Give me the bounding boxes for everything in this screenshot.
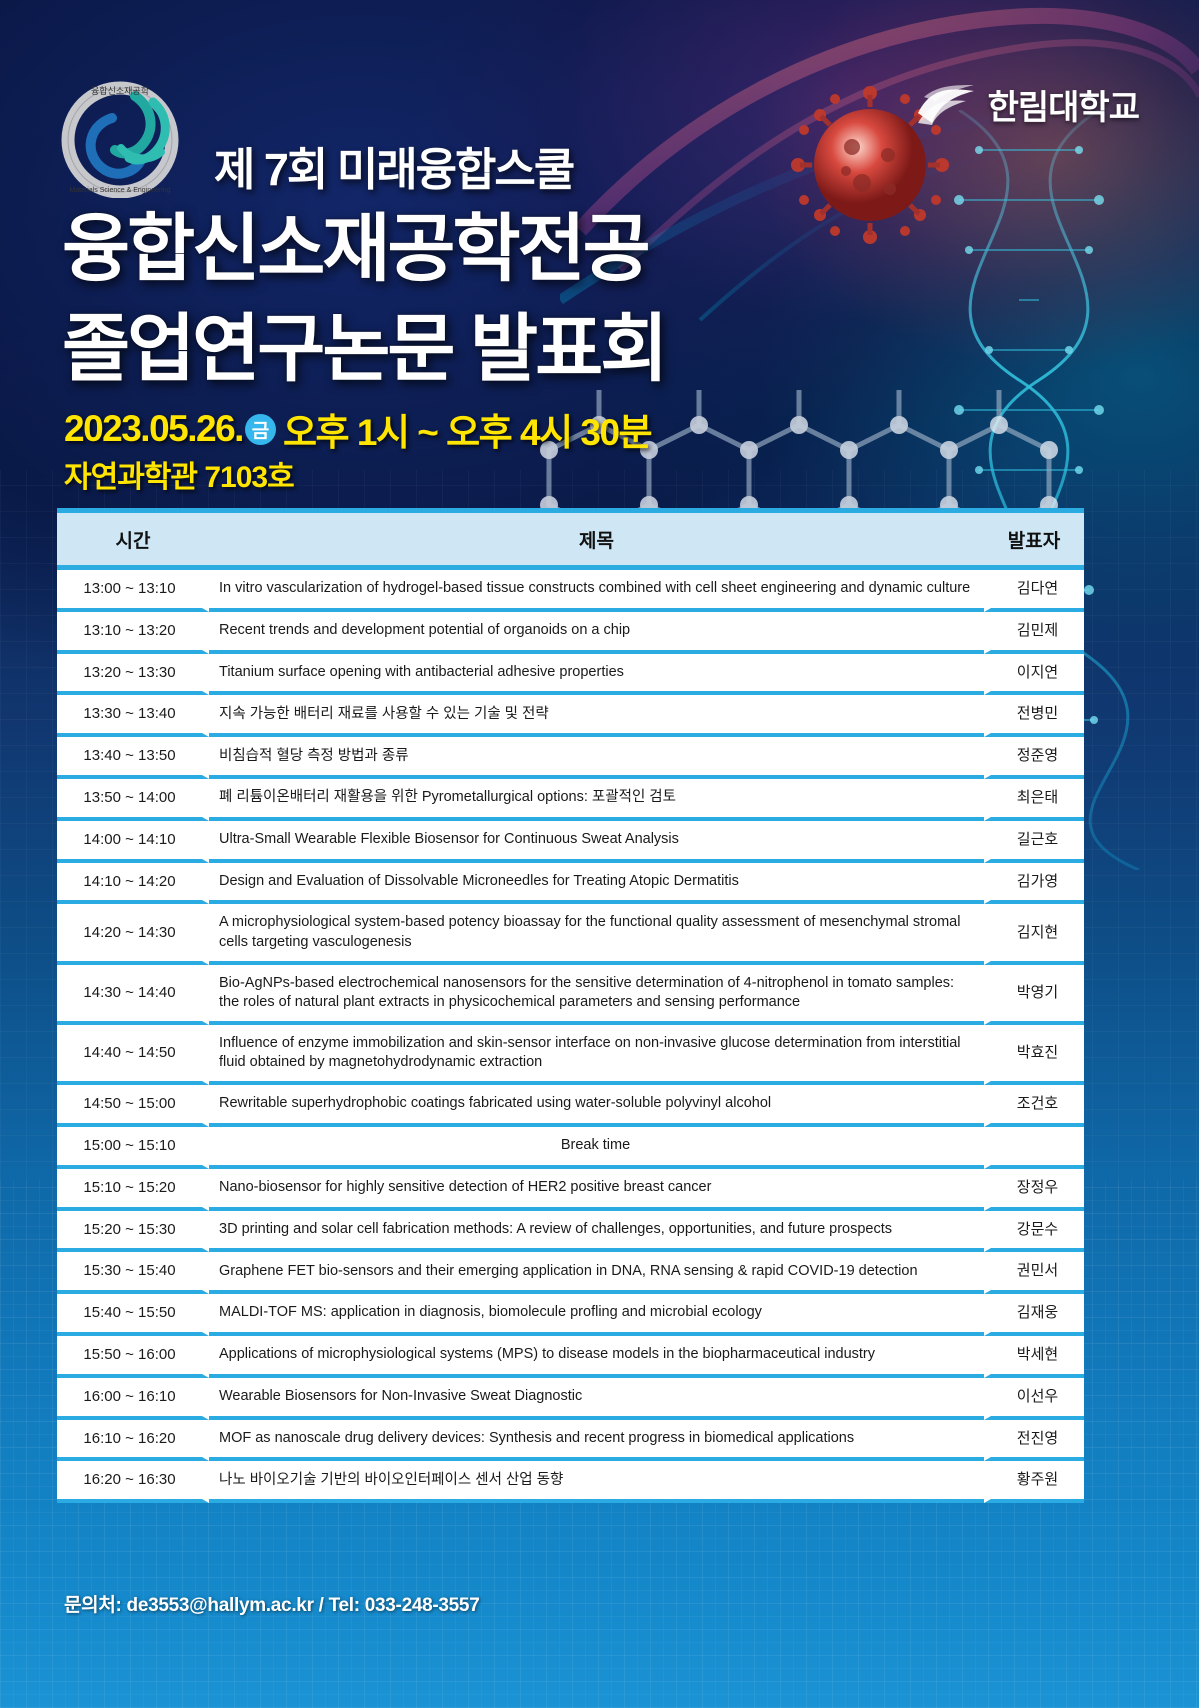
cell-time: 13:40 ~ 13:50 [57,737,209,779]
table-row: 16:00 ~ 16:10Wearable Biosensors for Non… [57,1378,1084,1420]
hallym-wave-icon [914,83,978,127]
department-logo: 융합신소재공학 Materials Science & Engineering [57,78,207,198]
plasma-swirl-decoration [560,0,1199,330]
cell-time: 13:50 ~ 14:00 [57,779,209,821]
table-row: 14:40 ~ 14:50Influence of enzyme immobil… [57,1025,1084,1085]
cell-time: 13:20 ~ 13:30 [57,654,209,696]
cell-presenter: 정준영 [984,737,1084,779]
cell-title: MOF as nanoscale drug delivery devices: … [209,1420,984,1462]
cell-time: 16:10 ~ 16:20 [57,1420,209,1462]
cell-time: 15:10 ~ 15:20 [57,1169,209,1211]
logo-outer-text: 융합신소재공학 [91,86,149,96]
contact-footer: 문의처: de3553@hallym.ac.kr / Tel: 033-248-… [64,1590,479,1617]
table-row: 15:00 ~ 15:10Break time [57,1127,1084,1169]
cell-time: 13:30 ~ 13:40 [57,695,209,737]
table-row: 13:20 ~ 13:30Titanium surface opening wi… [57,654,1084,696]
cell-time: 13:00 ~ 13:10 [57,570,209,612]
table-row: 14:00 ~ 14:10Ultra-Small Wearable Flexib… [57,821,1084,863]
table-row: 14:30 ~ 14:40Bio-AgNPs-based electrochem… [57,965,1084,1025]
cell-presenter: 전병민 [984,695,1084,737]
cell-title: Recent trends and development potential … [209,612,984,654]
event-kicker: 제 7회 미래융합스쿨 [214,133,573,198]
schedule-table-body: 13:00 ~ 13:10In vitro vascularization of… [57,570,1084,1503]
event-venue: 자연과학관 7103호 [64,452,294,496]
cell-title: In vitro vascularization of hydrogel-bas… [209,570,984,612]
table-row: 15:20 ~ 15:303D printing and solar cell … [57,1211,1084,1253]
cell-time: 16:20 ~ 16:30 [57,1461,209,1503]
cell-presenter: 장정우 [984,1169,1084,1211]
university-name: 한림대학교 [988,80,1139,129]
cell-presenter: 조건호 [984,1085,1084,1127]
poster-title-line-1: 융합신소재공학전공 [62,212,648,286]
cell-title: Design and Evaluation of Dissolvable Mic… [209,863,984,905]
cell-presenter: 이지연 [984,654,1084,696]
table-row: 14:50 ~ 15:00Rewritable superhydrophobic… [57,1085,1084,1127]
cell-time: 14:00 ~ 14:10 [57,821,209,863]
cell-presenter: 김다연 [984,570,1084,612]
cell-title: Bio-AgNPs-based electrochemical nanosens… [209,965,984,1025]
cell-title: Ultra-Small Wearable Flexible Biosensor … [209,821,984,863]
cell-presenter: 김민제 [984,612,1084,654]
cell-title: Titanium surface opening with antibacter… [209,654,984,696]
cell-presenter: 황주원 [984,1461,1084,1503]
cell-time: 15:00 ~ 15:10 [57,1127,209,1169]
cell-title: 나노 바이오기술 기반의 바이오인터페이스 센서 산업 동향 [209,1461,984,1503]
cell-time: 15:20 ~ 15:30 [57,1211,209,1253]
cell-presenter: 박세현 [984,1336,1084,1378]
table-row: 15:40 ~ 15:50MALDI-TOF MS: application i… [57,1294,1084,1336]
table-row: 14:10 ~ 14:20Design and Evaluation of Di… [57,863,1084,905]
event-time-range: 오후 1시 ~ 오후 4시 30분 [283,402,651,456]
cell-title: A microphysiological system-based potenc… [209,904,984,964]
cell-time: 15:30 ~ 15:40 [57,1252,209,1294]
cell-presenter: 김재웅 [984,1294,1084,1336]
cell-title: 비침습적 혈당 측정 방법과 종류 [209,737,984,779]
cell-time: 16:00 ~ 16:10 [57,1378,209,1420]
logo-inner-text: Materials Science & Engineering [69,187,170,194]
cell-presenter: 최은태 [984,779,1084,821]
column-header-time: 시간 [57,508,209,570]
table-header-row: 시간 제목 발표자 [57,508,1084,570]
cell-title: Influence of enzyme immobilization and s… [209,1025,984,1085]
cell-title: Break time [209,1127,984,1169]
table-row: 15:10 ~ 15:20Nano-biosensor for highly s… [57,1169,1084,1211]
cell-presenter: 전진영 [984,1420,1084,1462]
cell-presenter: 강문수 [984,1211,1084,1253]
cell-time: 15:40 ~ 15:50 [57,1294,209,1336]
cell-time: 14:40 ~ 14:50 [57,1025,209,1085]
cell-presenter: 권민서 [984,1252,1084,1294]
university-mark: 한림대학교 [914,80,1139,129]
cell-presenter [984,1127,1084,1169]
cell-title: MALDI-TOF MS: application in diagnosis, … [209,1294,984,1336]
cell-time: 14:20 ~ 14:30 [57,904,209,964]
table-row: 13:30 ~ 13:40지속 가능한 배터리 재료를 사용할 수 있는 기술 … [57,695,1084,737]
cell-title: 3D printing and solar cell fabrication m… [209,1211,984,1253]
cell-title: 폐 리튬이온배터리 재활용을 위한 Pyrometallurgical opti… [209,779,984,821]
day-of-week-badge: 금 [245,414,276,445]
table-row: 16:10 ~ 16:20MOF as nanoscale drug deliv… [57,1420,1084,1462]
cell-presenter: 길근호 [984,821,1084,863]
column-header-title: 제목 [209,508,984,570]
poster-title-line-2: 졸업연구논문 발표회 [62,312,665,386]
cell-title: Graphene FET bio-sensors and their emerg… [209,1252,984,1294]
cell-title: Rewritable superhydrophobic coatings fab… [209,1085,984,1127]
cell-presenter: 이선우 [984,1378,1084,1420]
table-row: 13:40 ~ 13:50비침습적 혈당 측정 방법과 종류정준영 [57,737,1084,779]
table-row: 16:20 ~ 16:30나노 바이오기술 기반의 바이오인터페이스 센서 산업… [57,1461,1084,1503]
cell-presenter: 박효진 [984,1025,1084,1085]
table-row: 14:20 ~ 14:30A microphysiological system… [57,904,1084,964]
cell-presenter: 김지현 [984,904,1084,964]
cell-time: 14:30 ~ 14:40 [57,965,209,1025]
table-row: 15:30 ~ 15:40Graphene FET bio-sensors an… [57,1252,1084,1294]
cell-presenter: 박영기 [984,965,1084,1025]
cell-time: 14:50 ~ 15:00 [57,1085,209,1127]
poster-canvas: 융합신소재공학 Materials Science & Engineering … [0,0,1199,1708]
table-row: 13:50 ~ 14:00폐 리튬이온배터리 재활용을 위한 Pyrometal… [57,779,1084,821]
cell-title: Applications of microphysiological syste… [209,1336,984,1378]
cell-title: Nano-biosensor for highly sensitive dete… [209,1169,984,1211]
cell-time: 14:10 ~ 14:20 [57,863,209,905]
table-row: 13:10 ~ 13:20Recent trends and developme… [57,612,1084,654]
cell-title: 지속 가능한 배터리 재료를 사용할 수 있는 기술 및 전략 [209,695,984,737]
event-date: 2023.05.26. [64,408,243,450]
column-header-presenter: 발표자 [984,508,1084,570]
table-row: 13:00 ~ 13:10In vitro vascularization of… [57,570,1084,612]
event-dateline: 2023.05.26. 금 오후 1시 ~ 오후 4시 30분 [64,402,651,456]
table-row: 15:50 ~ 16:00Applications of microphysio… [57,1336,1084,1378]
cell-presenter: 김가영 [984,863,1084,905]
cell-time: 15:50 ~ 16:00 [57,1336,209,1378]
cell-title: Wearable Biosensors for Non-Invasive Swe… [209,1378,984,1420]
schedule-table: 시간 제목 발표자 13:00 ~ 13:10In vitro vascular… [57,508,1084,1503]
cell-time: 13:10 ~ 13:20 [57,612,209,654]
schedule-table-head: 시간 제목 발표자 [57,508,1084,570]
